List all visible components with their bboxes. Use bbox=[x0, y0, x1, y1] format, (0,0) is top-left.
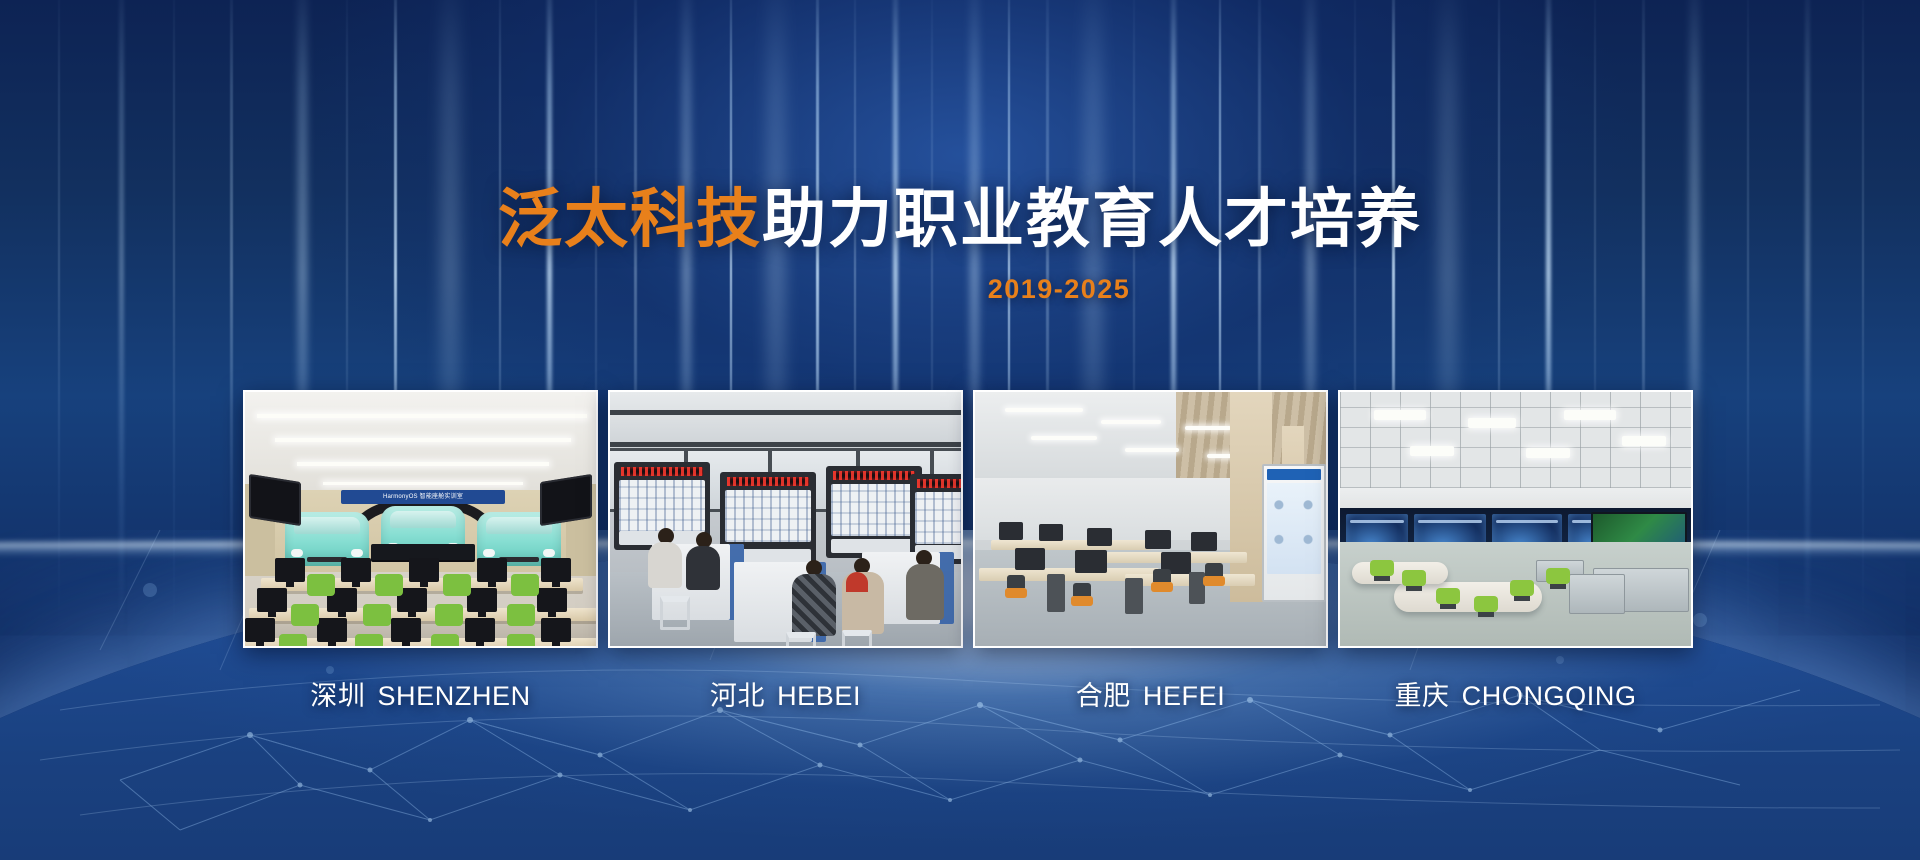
caption-chongqing: 重庆CHONGQING bbox=[1338, 674, 1693, 713]
photo-hebei-electronics-lab bbox=[610, 392, 961, 646]
caption-hefei-en: HEFEI bbox=[1143, 681, 1226, 711]
caption-hebei: 河北HEBEI bbox=[608, 674, 963, 713]
caption-chongqing-cn: 重庆 bbox=[1394, 681, 1449, 711]
photo-shenzhen-smart-cockpit-lab: HarmonyOS 智能座舱实训室 bbox=[245, 392, 596, 646]
location-card-chongqing[interactable]: 重庆CHONGQING bbox=[1338, 390, 1693, 713]
caption-shenzhen: 深圳SHENZHEN bbox=[243, 674, 598, 713]
location-card-hefei[interactable]: 合肥HEFEI bbox=[973, 390, 1328, 713]
caption-hefei-cn: 合肥 bbox=[1076, 681, 1131, 711]
photo-chongqing-smart-classroom bbox=[1340, 392, 1691, 646]
title-brand-text: 泛太科技 bbox=[498, 183, 762, 255]
caption-hebei-cn: 河北 bbox=[710, 681, 765, 711]
caption-shenzhen-cn: 深圳 bbox=[310, 681, 365, 711]
photo-frame-chongqing[interactable] bbox=[1338, 390, 1693, 648]
location-card-hebei[interactable]: 河北HEBEI bbox=[608, 390, 963, 713]
banner-root: 泛太科技助力职业教育人才培养 2019-2025 HarmonyOS 智能座舱实… bbox=[0, 0, 1920, 860]
headline-block: 泛太科技助力职业教育人才培养 2019-2025 bbox=[0, 186, 1920, 305]
caption-chongqing-en: CHONGQING bbox=[1462, 681, 1637, 711]
photo-kiosk-hefei bbox=[1262, 464, 1326, 602]
title-rest-text: 助力职业教育人才培养 bbox=[762, 183, 1422, 255]
caption-hefei: 合肥HEFEI bbox=[973, 674, 1328, 713]
photo-hefei-computer-lab bbox=[975, 392, 1326, 646]
location-card-list: HarmonyOS 智能座舱实训室 bbox=[243, 390, 1693, 713]
location-card-shenzhen[interactable]: HarmonyOS 智能座舱实训室 bbox=[243, 390, 598, 713]
photo-frame-hebei[interactable] bbox=[608, 390, 963, 648]
caption-shenzhen-en: SHENZHEN bbox=[377, 681, 530, 711]
photo-frame-hefei[interactable] bbox=[973, 390, 1328, 648]
photo-sign-shenzhen: HarmonyOS 智能座舱实训室 bbox=[341, 490, 505, 504]
caption-hebei-en: HEBEI bbox=[777, 681, 861, 711]
photo-frame-shenzhen[interactable]: HarmonyOS 智能座舱实训室 bbox=[243, 390, 598, 648]
title-subtitle-years: 2019-2025 bbox=[0, 274, 1920, 305]
page-title: 泛太科技助力职业教育人才培养 bbox=[0, 186, 1920, 254]
